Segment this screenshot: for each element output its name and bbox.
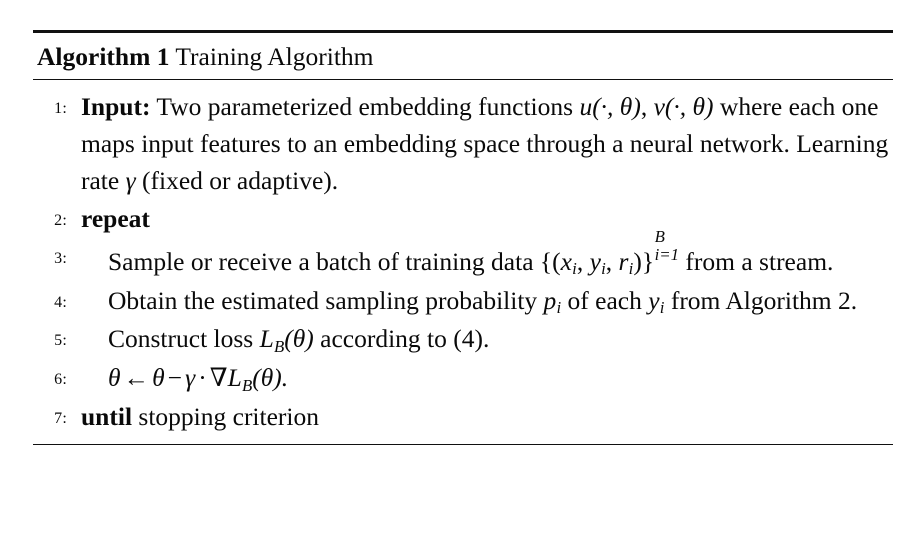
step-text-segment: Obtain the estimated sampling probabilit… [108,286,544,315]
math-embedding-v: v(·, θ) [654,92,714,121]
step-number: 1: [33,89,70,117]
step-text: Sample or receive a batch of training da… [70,239,893,282]
bottom-rule [33,444,893,445]
step-text: Obtain the estimated sampling probabilit… [70,283,893,321]
var-p: p [544,286,557,315]
algorithm-caption: Algorithm 1 Training Algorithm [33,33,893,79]
step-number: 5: [33,321,70,349]
step-number: 4: [33,283,70,311]
step-number: 2: [33,201,70,229]
algorithm-steps: 1: Input: Two parameterized embedding fu… [33,80,893,436]
algorithm-step-2: 2: repeat [33,201,893,238]
math-probability-p: pi [544,286,562,315]
theta-lhs: θ [108,363,121,392]
comma-1: , [577,247,590,276]
step-keyword-until: until [81,402,132,431]
var-L-subscript: B [274,337,284,356]
algorithm-step-1: 1: Input: Two parameterized embedding fu… [33,89,893,200]
gamma-symbol: γ [185,363,195,392]
step-text-segment-2: according to (4). [314,324,490,353]
step-text-segment-2: of each [561,286,648,315]
math-embedding-u: u(·, θ) [579,92,640,121]
step-text: repeat [70,201,893,238]
step-text-segment: Sample or receive a batch of training da… [108,247,540,276]
algorithm-step-6: 6: θ←θ−γ·∇LB(θ). [33,360,893,398]
nabla-icon: ∇ [210,363,228,392]
math-batch-set: {(xi, yi, ri)}Bi=1 [540,247,679,276]
step-text-segment-3: (fixed or adaptive). [136,166,339,195]
algorithm-step-3: 3: Sample or receive a batch of training… [33,239,893,282]
comma-2: , [606,247,619,276]
step-text: Input: Two parameterized embedding funct… [70,89,893,200]
math-loss-LB: LB(θ) [260,324,314,353]
var-y: y [590,247,601,276]
step-text-segment-3: from Algorithm 2. [664,286,857,315]
var-L: L [228,363,242,392]
var-r: r [619,247,629,276]
algorithm-step-4: 4: Obtain the estimated sampling probabi… [33,283,893,321]
var-x: x [561,247,572,276]
algorithm-step-7: 7: until stopping criterion [33,399,893,436]
math-learning-rate-gamma: γ [126,166,136,195]
set-limit-upper: B [655,228,679,245]
paren-theta: (θ) [284,324,314,353]
paren-theta: (θ). [252,363,288,392]
var-L: L [260,324,274,353]
algorithm-step-5: 5: Construct loss LB(θ) according to (4)… [33,321,893,359]
algorithm-caption-label: Algorithm 1 [37,42,169,71]
step-text-segment-2: from a stream. [679,247,833,276]
set-limits: Bi=1 [655,238,679,272]
step-text-segment: stopping criterion [132,402,319,431]
var-L-subscript: B [242,376,252,395]
step-text-separator: , [641,92,654,121]
assignment-arrow: ← [121,363,153,392]
cdot-operator: · [195,363,210,392]
math-gradient-update: θ←θ−γ·∇LB(θ). [108,363,288,392]
math-label-y: yi [648,286,664,315]
set-open-brace: {( [540,247,561,276]
theta-rhs: θ [152,363,165,392]
step-text: Construct loss LB(θ) according to (4). [70,321,893,359]
step-keyword: Input: [81,92,150,121]
step-text-segment: Two parameterized embedding functions [150,92,579,121]
step-number: 3: [33,239,70,267]
step-number: 6: [33,360,70,388]
step-text: until stopping criterion [70,399,893,436]
step-number: 7: [33,399,70,427]
minus-operator: − [165,363,185,392]
algorithm-caption-title: Training Algorithm [175,42,373,71]
step-keyword-repeat: repeat [81,204,150,233]
var-y: y [648,286,659,315]
step-text: θ←θ−γ·∇LB(θ). [70,360,893,398]
step-text-segment: Construct loss [108,324,260,353]
algorithm-block: Algorithm 1 Training Algorithm 1: Input:… [33,30,893,445]
set-close-brace: )} [633,247,654,276]
set-limit-lower: i=1 [655,246,679,263]
